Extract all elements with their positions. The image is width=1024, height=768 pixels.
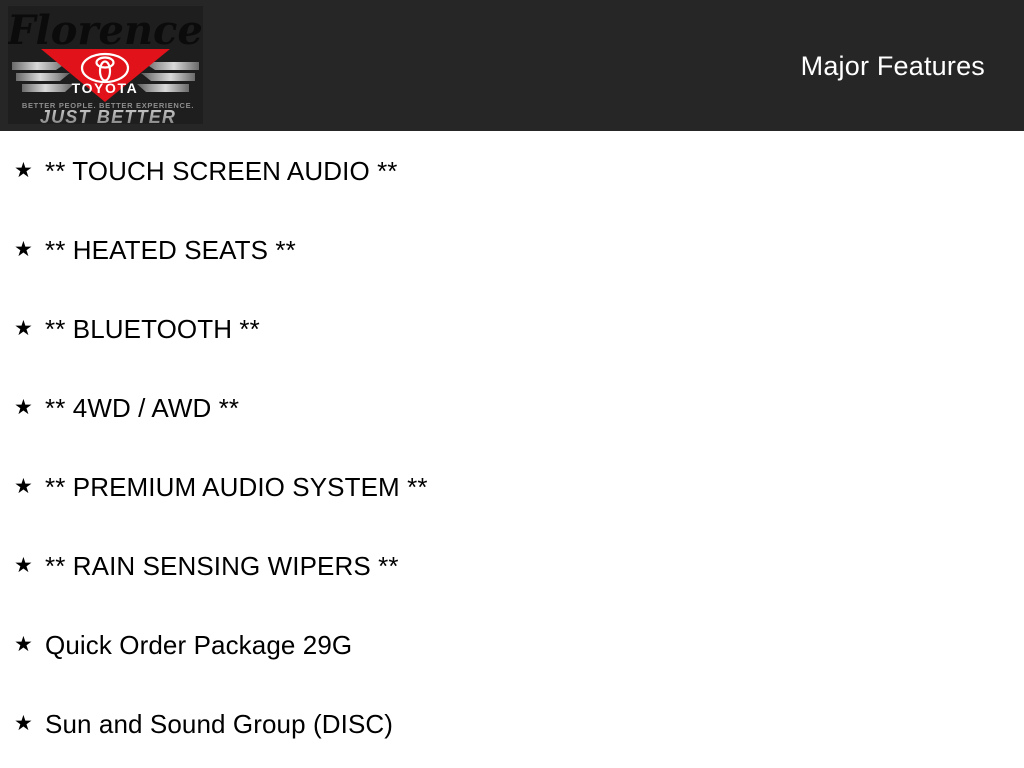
- star-icon: ★: [14, 160, 45, 181]
- star-icon: ★: [14, 239, 45, 260]
- feature-label: ** BLUETOOTH **: [45, 314, 260, 344]
- star-icon: ★: [14, 713, 45, 734]
- feature-label: Sun and Sound Group (DISC): [45, 709, 393, 739]
- list-item: ★ Quick Order Package 29G: [0, 605, 1024, 684]
- list-item: ★ ** 4WD / AWD **: [0, 368, 1024, 447]
- star-icon: ★: [14, 397, 45, 418]
- star-icon: ★: [14, 318, 45, 339]
- page-title: Major Features: [801, 50, 985, 82]
- feature-label: ** TOUCH SCREEN AUDIO **: [45, 156, 398, 186]
- list-item: ★ ** BLUETOOTH **: [0, 289, 1024, 368]
- dealer-logo-graphic: TOYOTA Florence BETTER PEOPLE. BETTER EX…: [8, 6, 203, 124]
- feature-label: ** HEATED SEATS **: [45, 235, 296, 265]
- feature-label: ** PREMIUM AUDIO SYSTEM **: [45, 472, 428, 502]
- list-item: ★ ** TOUCH SCREEN AUDIO **: [0, 131, 1024, 210]
- star-icon: ★: [14, 634, 45, 655]
- svg-text:TOYOTA: TOYOTA: [72, 80, 139, 96]
- star-icon: ★: [14, 476, 45, 497]
- svg-text:JUST BETTER: JUST BETTER: [40, 107, 176, 124]
- major-features-list: ★ ** TOUCH SCREEN AUDIO ** ★ ** HEATED S…: [0, 131, 1024, 763]
- list-item: ★ Sun and Sound Group (DISC): [0, 684, 1024, 763]
- dealer-logo[interactable]: TOYOTA Florence BETTER PEOPLE. BETTER EX…: [8, 6, 203, 124]
- page-header: TOYOTA Florence BETTER PEOPLE. BETTER EX…: [0, 0, 1024, 131]
- star-icon: ★: [14, 555, 45, 576]
- list-item: ★ ** RAIN SENSING WIPERS **: [0, 526, 1024, 605]
- feature-label: ** RAIN SENSING WIPERS **: [45, 551, 399, 581]
- feature-label: ** 4WD / AWD **: [45, 393, 239, 423]
- list-item: ★ ** HEATED SEATS **: [0, 210, 1024, 289]
- feature-label: Quick Order Package 29G: [45, 630, 352, 660]
- list-item: ★ ** PREMIUM AUDIO SYSTEM **: [0, 447, 1024, 526]
- svg-text:Florence: Florence: [8, 7, 203, 54]
